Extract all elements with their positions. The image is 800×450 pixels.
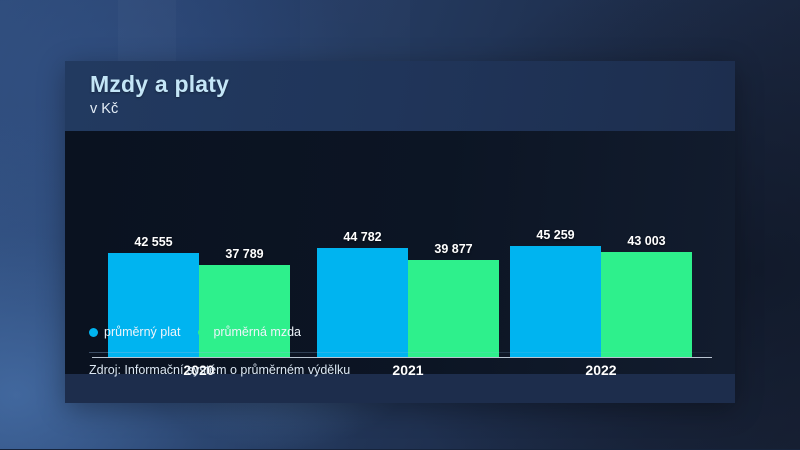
chart-legend: průměrný platprůměrná mzda <box>89 325 301 339</box>
bar-2021-mzda[interactable] <box>408 260 499 357</box>
bar-2021-plat[interactable] <box>317 248 408 357</box>
bar-2020-mzda[interactable] <box>199 265 290 357</box>
legend-item-label: průměrný plat <box>104 325 180 339</box>
bar-value-label: 45 259 <box>536 228 574 242</box>
bar-value-label: 42 555 <box>134 235 172 249</box>
bar-value-label: 44 782 <box>343 230 381 244</box>
legend-item-label: průměrná mzda <box>213 325 301 339</box>
footer-divider <box>89 352 711 353</box>
legend-dot-icon <box>89 328 98 337</box>
bar-2020-plat[interactable] <box>108 253 199 357</box>
x-axis-tick-2022: 2022 <box>585 362 616 378</box>
bar-2022-plat[interactable] <box>510 246 601 357</box>
x-axis-line <box>92 357 712 359</box>
legend-dot-icon <box>198 328 207 337</box>
bar-value-label: 39 877 <box>434 242 472 256</box>
legend-item[interactable]: průměrný plat <box>89 325 180 339</box>
legend-item[interactable]: průměrná mzda <box>198 325 301 339</box>
x-axis-tick-2021: 2021 <box>392 362 423 378</box>
chart-subtitle: v Kč <box>90 101 118 117</box>
bar-value-label: 37 789 <box>225 247 263 261</box>
chart-header: Mzdy a platy v Kč <box>65 61 735 131</box>
page-title: Mzdy a platy <box>90 71 229 98</box>
chart-panel: Mzdy a platy v Kč 42 55537 789202044 782… <box>65 61 735 403</box>
bar-value-label: 43 003 <box>627 234 665 248</box>
bar-2022-mzda[interactable] <box>601 252 692 357</box>
source-note: Zdroj: Informační systém o průměrném výd… <box>89 363 350 377</box>
